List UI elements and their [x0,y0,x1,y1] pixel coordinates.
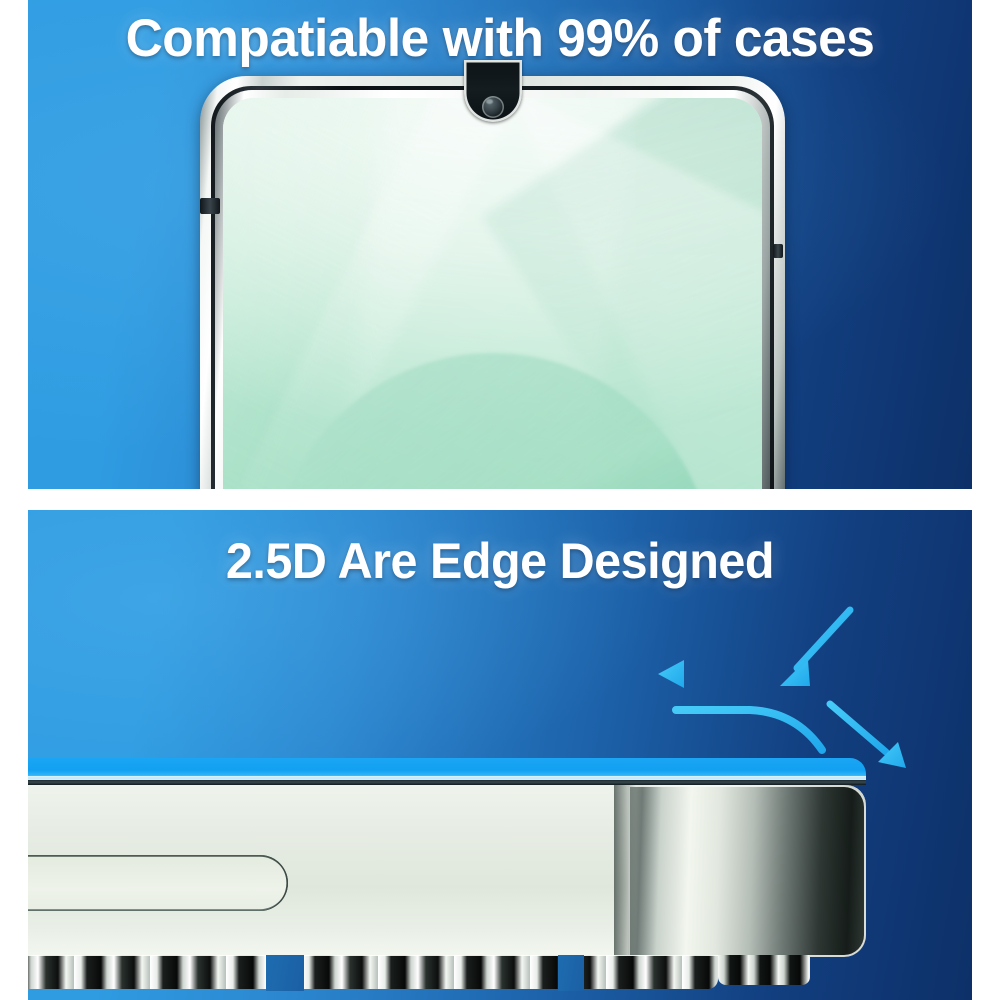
tempered-glass-strip [28,758,866,780]
rounded-chrome-corner [628,785,866,957]
phone-screen [223,98,762,489]
edge-design-panel: 2.5D Are Edge Designed [28,510,972,1000]
bevel-strip-tail [718,955,810,985]
compatibility-panel: Compatiable with 99% of cases [28,0,972,489]
product-feature-sheet: Compatiable with 99% of cases [0,0,1000,1000]
speaker-groove [28,855,288,911]
waterdrop-notch [464,76,522,126]
front-camera-icon [482,96,504,118]
bevel-gap-right [558,955,584,991]
curved-edge-arrow [676,710,822,750]
antenna-band-right [773,244,783,258]
deflected-left-arrow [658,660,782,688]
antenna-band-left [200,198,220,214]
incoming-impact-arrow [780,610,850,686]
phone-front-illustration [200,76,785,489]
phone-edge-illustration [28,758,866,1000]
bevel-gap-left [266,955,304,991]
section-title: 2.5D Are Edge Designed [42,532,958,590]
reflective-bevel-strip [28,955,718,989]
